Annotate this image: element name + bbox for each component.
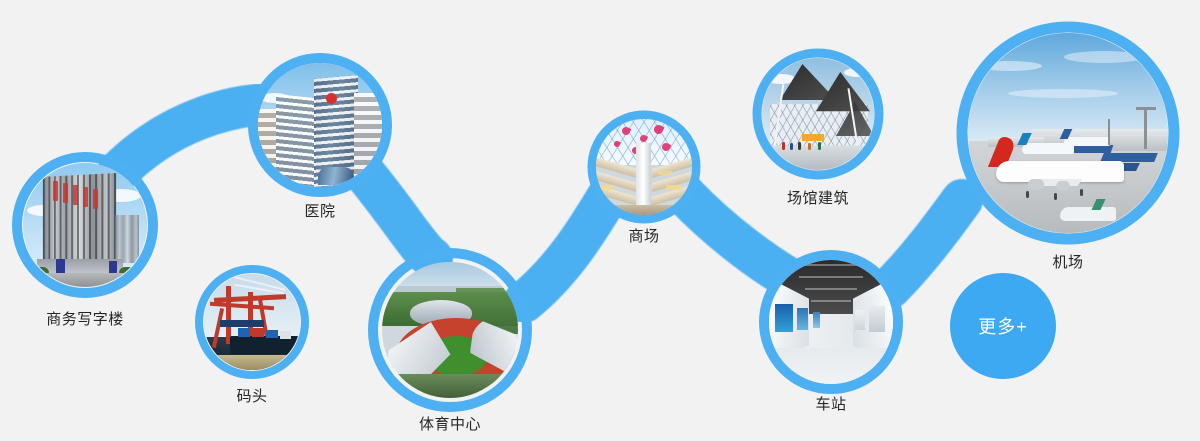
railway-station-photo: [769, 260, 893, 384]
label-hospital: 医院: [260, 203, 380, 220]
exhibition-venue-photo: [762, 58, 874, 170]
shopping-mall-photo: [596, 119, 692, 215]
label-dock: 码头: [192, 388, 312, 405]
label-station: 车站: [771, 396, 891, 413]
scene-diagram: 商务写字楼 医院: [0, 0, 1200, 441]
office-building-photo: [23, 163, 147, 287]
more-button-label: 更多+: [978, 313, 1028, 339]
label-venue: 场馆建筑: [758, 190, 878, 207]
label-sports: 体育中心: [390, 416, 510, 433]
label-airport: 机场: [1008, 254, 1128, 271]
airport-apron-photo: [968, 33, 1168, 233]
port-dock-photo: [204, 274, 300, 370]
more-button[interactable]: 更多+: [950, 273, 1056, 379]
sports-center-photo: [382, 262, 518, 398]
hospital-building-photo: [258, 63, 382, 187]
label-office: 商务写字楼: [10, 311, 160, 328]
label-mall: 商场: [584, 228, 704, 245]
